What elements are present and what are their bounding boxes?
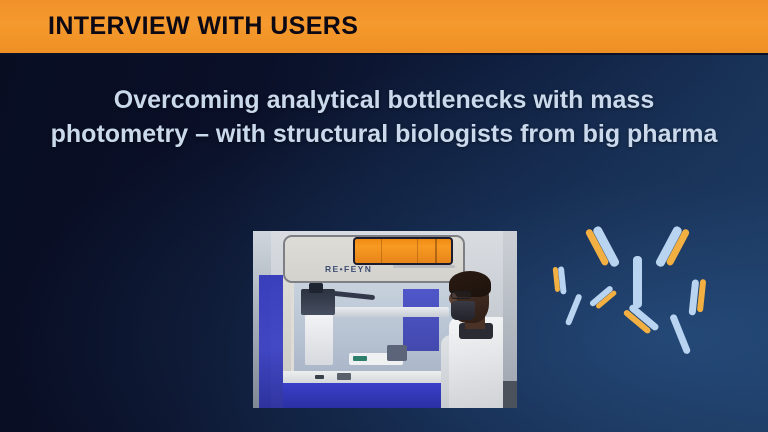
instrument-hood: RE•FEYN [283,235,465,283]
instrument-blue-module [403,289,439,351]
antibody-small-left-icon [545,263,611,335]
instrument-column [305,315,333,365]
antibody-stem [669,313,691,355]
top-banner: INTERVIEW WITH USERS [0,0,768,55]
slide-canvas: INTERVIEW WITH USERS Overcoming analytic… [0,0,768,432]
instrument-base-panel: Twoᴹᴾ Auto [283,383,465,408]
instrument-sample-slide [353,356,367,361]
photo-right-dark-corner [503,381,517,408]
display-seam-1 [381,239,382,263]
display-seam-3 [435,239,437,263]
banner-title: INTERVIEW WITH USERS [48,14,358,39]
page-title: Overcoming analytical bottlenecks with m… [46,84,722,151]
display-seam-2 [417,239,418,263]
instrument-display-panel [353,237,453,265]
person-glasses [451,291,471,299]
antibody-illustration-group [548,218,724,358]
person-face-mask [451,301,475,320]
instrument-head-top [309,283,323,293]
instrument-photo: RE•FEYN Twoᴹᴾ Auto [253,231,517,408]
instrument-handle [393,265,455,268]
instrument-knob-1 [315,375,324,379]
instrument-small-module [387,345,407,361]
refeyn-logo: RE•FEYN [325,264,372,274]
antibody-stem [565,293,583,326]
instrument-knob-2 [337,373,351,380]
